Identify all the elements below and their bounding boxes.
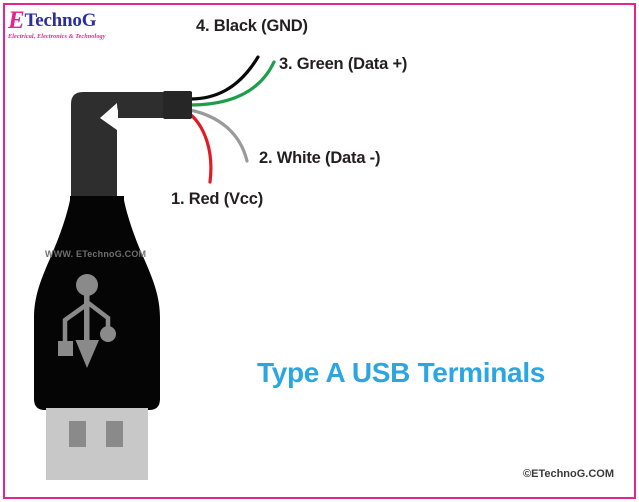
wire-red-vcc bbox=[190, 114, 211, 182]
label-wire-green-data-plus: 3. Green (Data +) bbox=[279, 55, 407, 74]
usb-metal-shroud bbox=[46, 408, 148, 480]
label-wire-red-vcc: 1. Red (Vcc) bbox=[171, 190, 263, 209]
label-wire-white-data-minus: 2. White (Data -) bbox=[259, 149, 380, 168]
usb-connector-body bbox=[34, 200, 160, 410]
copyright-credit: ©ETechnoG.COM bbox=[523, 468, 614, 480]
wire-white-data-minus bbox=[190, 110, 247, 161]
usb-shroud-notch-right bbox=[106, 421, 123, 447]
usb-shroud-notch-left bbox=[69, 421, 86, 447]
cable-end-cap bbox=[163, 91, 192, 119]
diagram-title: Type A USB Terminals bbox=[257, 357, 545, 389]
usb-connector-neck bbox=[70, 196, 124, 212]
label-wire-black-gnd: 4. Black (GND) bbox=[196, 17, 308, 36]
usb-illustration bbox=[0, 0, 639, 502]
usb-terminals-diagram: ETechnoG Electrical, Electronics & Techn… bbox=[0, 0, 639, 502]
